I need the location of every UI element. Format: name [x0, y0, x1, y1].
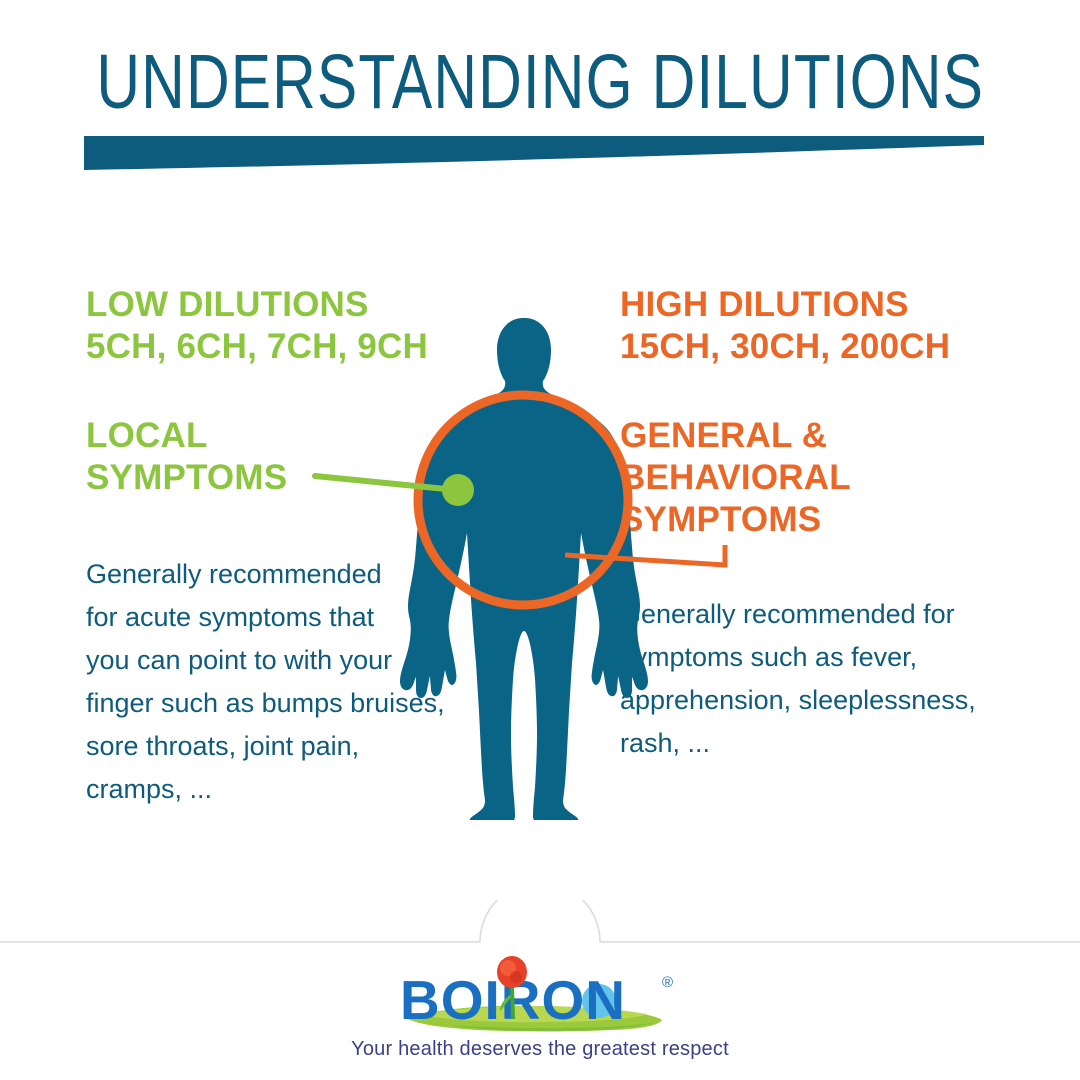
- title-underline-rule: [84, 136, 984, 176]
- page-title-text: UNDERSTANDING DILUTIONS: [96, 41, 984, 124]
- infographic-page: UNDERSTANDING DILUTIONS LOW DILUTIONS 5C…: [0, 0, 1080, 1080]
- logo-registered-mark-icon: ®: [662, 974, 673, 991]
- footer-tagline: Your health deserves the greatest respec…: [0, 1038, 1080, 1061]
- green-dot-marker: [442, 474, 474, 506]
- boiron-logo: BOIRON ®: [390, 945, 690, 1045]
- header-block: UNDERSTANDING DILUTIONS: [0, 0, 1080, 190]
- page-title: UNDERSTANDING DILUTIONS: [60, 47, 1020, 117]
- body-diagram: [280, 300, 800, 820]
